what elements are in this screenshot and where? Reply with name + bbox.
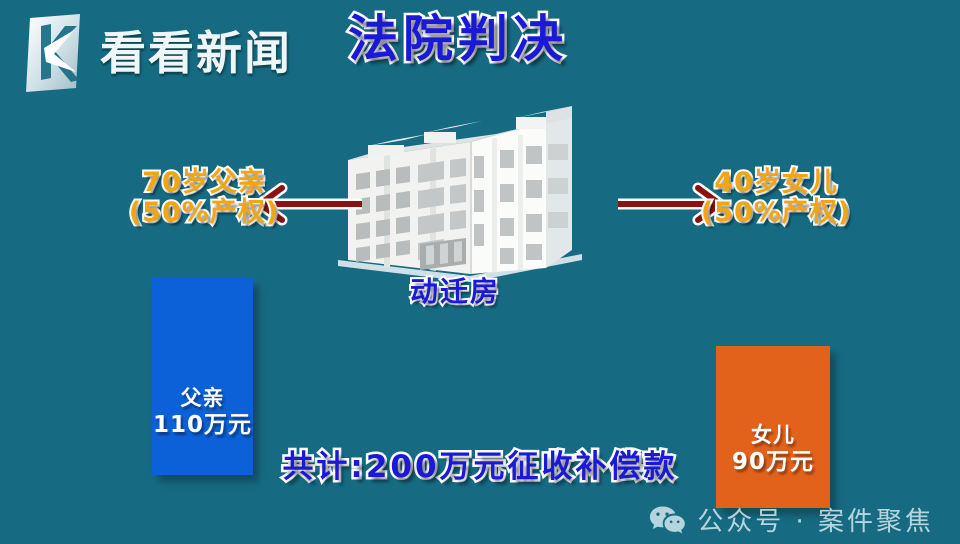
daughter-ownership-line: (50%产权) [676,198,876,228]
total-compensation-caption: 共计:200万元征收补偿款 [0,452,960,483]
amount-bar-father-party: 父亲 [181,385,225,411]
amount-bar-father-value: 110万元 [153,411,252,441]
watermark-text: 公众号 · 案件聚焦 [697,501,934,538]
daughter-share-label: 40岁女儿 (50%产权) [676,168,876,228]
kankan-k-mark-icon [24,14,86,92]
father-age-line: 70岁父亲 [142,167,266,198]
channel-name: 看看新闻 [100,30,292,76]
father-share-label: 70岁父亲 (50%产权) [104,168,304,228]
infographic-canvas: 看看新闻 法院判决 [0,0,960,544]
building-caption: 动迁房 [380,278,530,306]
daughter-age-line: 40岁女儿 [714,167,838,198]
amount-bar-father: 父亲 110万元 [152,278,253,475]
amount-bar-daughter: 女儿 90万元 [716,346,830,508]
watermark: 公众号 · 案件聚焦 [649,501,934,538]
wechat-icon [649,504,685,536]
father-ownership-line: (50%产权) [104,198,304,228]
channel-logo: 看看新闻 [24,14,292,92]
page-title: 法院判决 [348,14,568,64]
apartment-building-icon [320,98,620,298]
amount-bar-daughter-party: 女儿 [751,422,795,448]
